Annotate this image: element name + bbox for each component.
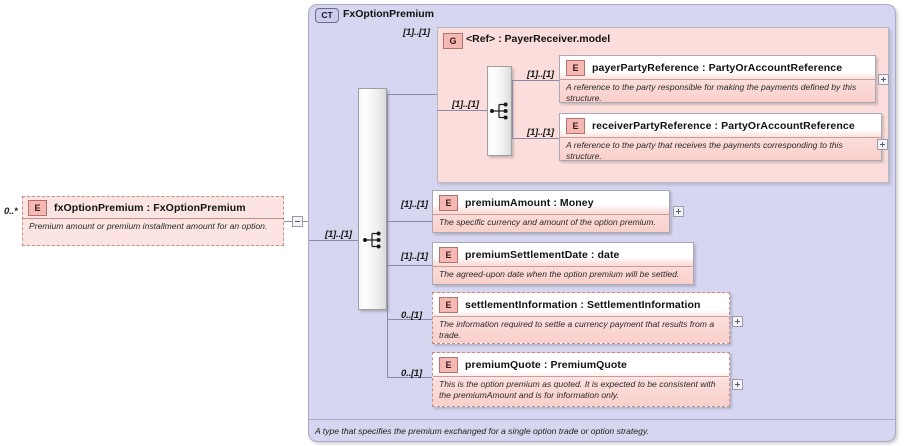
- premiumamount-header: E premiumAmount : Money: [433, 191, 669, 214]
- schema-diagram-canvas: 0..* E fxOptionPremium : FxOptionPremium…: [0, 0, 905, 446]
- receiver-documentation: A reference to the party that receives t…: [560, 137, 881, 165]
- receiver-cardinality: [1]..[1]: [527, 127, 554, 138]
- group-badge-icon: G: [443, 33, 463, 49]
- element-badge-icon: E: [439, 195, 458, 211]
- element-payerpartyreference[interactable]: E payerPartyReference : PartyOrAccountRe…: [559, 55, 876, 103]
- main-sequence-incoming-line: [309, 240, 358, 241]
- sequence-compositor-icon: [490, 101, 512, 121]
- receiver-name: receiverPartyReference : PartyOrAccountR…: [592, 120, 855, 132]
- plus-box-icon[interactable]: [877, 139, 888, 150]
- payer-name: payerPartyReference : PartyOrAccountRefe…: [592, 62, 842, 74]
- ref-inner-sequence-cardinality: [1]..[1]: [452, 99, 479, 110]
- ct-title: FxOptionPremium: [343, 8, 434, 20]
- root-element-documentation: Premium amount or premium installment am…: [23, 218, 283, 235]
- element-premiumamount[interactable]: E premiumAmount : Money The specific cur…: [432, 190, 670, 233]
- premiumsettlementdate-name: premiumSettlementDate : date: [465, 249, 620, 261]
- ct-badge-icon: CT: [315, 8, 339, 23]
- plus-box-icon[interactable]: [878, 74, 889, 85]
- element-settlementinformation[interactable]: E settlementInformation : SettlementInfo…: [432, 292, 730, 344]
- premiumsettlementdate-connector-line: [387, 265, 432, 266]
- minus-box-icon[interactable]: [292, 216, 303, 227]
- element-badge-icon: E: [439, 357, 458, 373]
- settlementinformation-name: settlementInformation : SettlementInform…: [465, 299, 701, 311]
- ref-group-connector-line: [387, 94, 437, 95]
- settlementinformation-documentation: The information required to settle a cur…: [433, 316, 729, 344]
- element-badge-icon: E: [566, 118, 585, 134]
- plus-box-icon[interactable]: [732, 379, 743, 390]
- premiumamount-cardinality: [1]..[1]: [401, 199, 428, 210]
- element-badge-icon: E: [28, 200, 47, 216]
- sequence-compositor-icon: [363, 230, 385, 250]
- receiver-connector-line: [512, 138, 559, 139]
- premiumamount-name: premiumAmount : Money: [465, 197, 594, 209]
- premiumsettlementdate-documentation: The agreed-upon date when the option pre…: [433, 266, 693, 283]
- payer-header: E payerPartyReference : PartyOrAccountRe…: [560, 56, 875, 79]
- ref-group-title: <Ref> : PayerReceiver.model: [466, 33, 610, 45]
- premiumsettlementdate-header: E premiumSettlementDate : date: [433, 243, 693, 266]
- element-premiumsettlementdate[interactable]: E premiumSettlementDate : date The agree…: [432, 242, 694, 285]
- receiver-header: E receiverPartyReference : PartyOrAccoun…: [560, 114, 881, 137]
- element-badge-icon: E: [566, 60, 585, 76]
- ref-inner-sequence-incoming-line: [437, 110, 487, 111]
- element-premiumquote[interactable]: E premiumQuote : PremiumQuote This is th…: [432, 352, 730, 407]
- payer-connector-line: [512, 80, 559, 81]
- ct-footer-documentation: A type that specifies the premium exchan…: [315, 426, 649, 436]
- premiumquote-documentation: This is the option premium as quoted. It…: [433, 376, 729, 404]
- plus-box-icon[interactable]: [673, 206, 684, 217]
- premiumquote-name: premiumQuote : PremiumQuote: [465, 359, 627, 371]
- settlementinformation-header: E settlementInformation : SettlementInfo…: [433, 293, 729, 316]
- root-element-header: E fxOptionPremium : FxOptionPremium: [23, 197, 283, 218]
- main-sequence-cardinality: [1]..[1]: [325, 229, 352, 240]
- element-badge-icon: E: [439, 247, 458, 263]
- root-element-fxoptionpremium[interactable]: E fxOptionPremium : FxOptionPremium Prem…: [22, 196, 284, 246]
- root-connector-left-line: [284, 221, 292, 222]
- premiumsettlementdate-cardinality: [1]..[1]: [401, 251, 428, 262]
- main-sequence-compositor[interactable]: [358, 88, 387, 310]
- premiumamount-documentation: The specific currency and amount of the …: [433, 214, 669, 231]
- plus-box-icon[interactable]: [732, 316, 743, 327]
- ref-branch-spine: [512, 80, 513, 138]
- element-receiverpartyreference[interactable]: E receiverPartyReference : PartyOrAccoun…: [559, 113, 882, 161]
- root-element-cardinality: 0..*: [4, 206, 17, 217]
- main-branch-spine: [387, 94, 388, 377]
- payer-cardinality: [1]..[1]: [527, 69, 554, 80]
- premiumquote-header: E premiumQuote : PremiumQuote: [433, 353, 729, 376]
- ref-group-cardinality: [1]..[1]: [403, 27, 430, 38]
- premiumamount-connector-line: [387, 221, 432, 222]
- premiumquote-cardinality: 0..[1]: [401, 368, 422, 379]
- element-badge-icon: E: [439, 297, 458, 313]
- ct-footer-divider: [309, 419, 895, 420]
- settlementinformation-cardinality: 0..[1]: [401, 310, 422, 321]
- root-element-name: fxOptionPremium : FxOptionPremium: [54, 202, 246, 214]
- payer-documentation: A reference to the party responsible for…: [560, 79, 875, 107]
